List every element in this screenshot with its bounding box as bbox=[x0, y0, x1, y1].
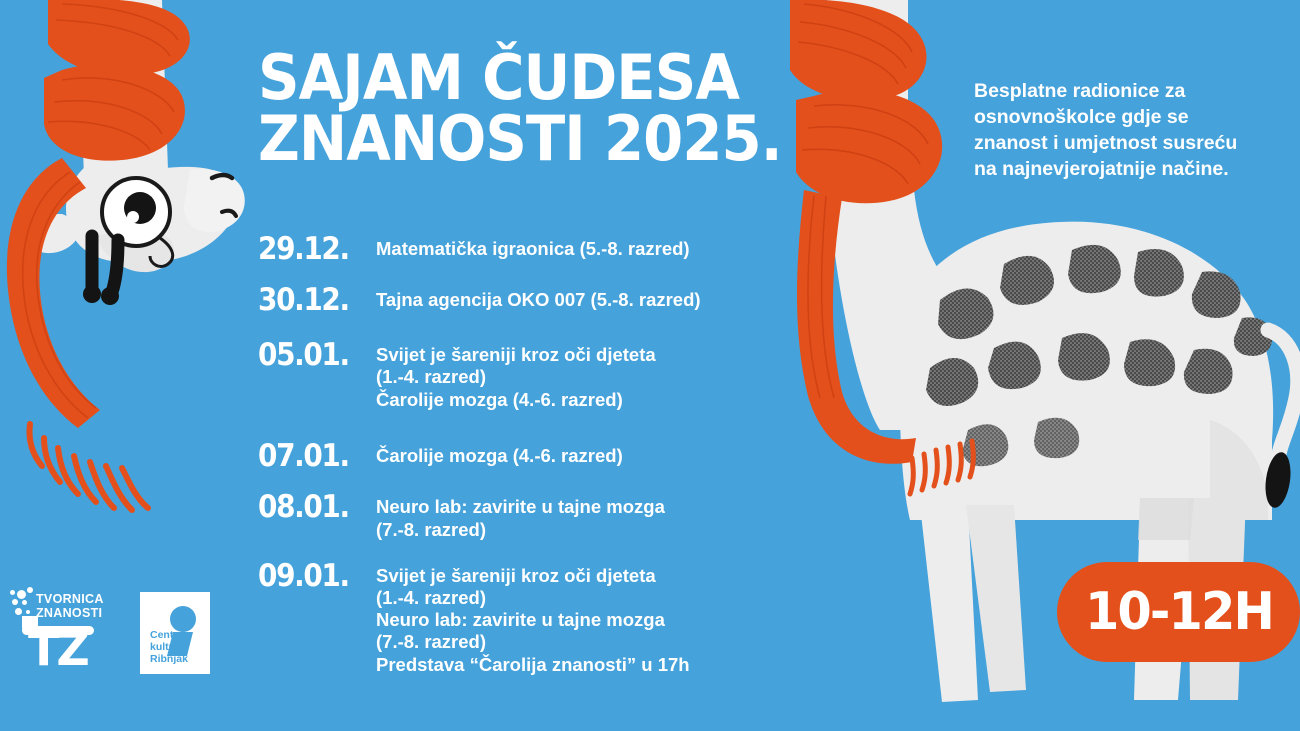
logo-ribnjak-line-3: Ribnjak bbox=[150, 654, 188, 666]
schedule-list: 29.12. Matematička igraonica (5.-8. razr… bbox=[258, 234, 818, 676]
logo-tvornica-wordmark: TVORNICA ZNANOSTI bbox=[36, 592, 104, 620]
schedule-row: 30.12. Tajna agencija OKO 007 (5.-8. raz… bbox=[258, 285, 818, 317]
logo-ribnjak-wordmark: Centar kulture Ribnjak bbox=[150, 630, 188, 666]
schedule-event: Neuro lab: zavirite u tajne mozga (7.-8.… bbox=[376, 492, 818, 540]
bubble-icon bbox=[10, 590, 15, 595]
time-badge-label: 10-12H bbox=[1085, 582, 1273, 642]
bubble-icon bbox=[12, 599, 18, 605]
schedule-event-line: Čarolije mozga (4.-6. razred) bbox=[376, 445, 818, 467]
description-line-3: znanost i umjetnost susreću bbox=[974, 131, 1294, 157]
poster: SAJAM ČUDESA ZNANOSTI 2025. Besplatne ra… bbox=[0, 0, 1300, 731]
description-text: Besplatne radionice za osnovnoškolce gdj… bbox=[974, 79, 1294, 183]
schedule-event-line: Neuro lab: zavirite u tajne mozga bbox=[376, 496, 818, 518]
page-title: SAJAM ČUDESA ZNANOSTI 2025. bbox=[258, 48, 816, 170]
bubble-icon bbox=[15, 608, 22, 615]
schedule-date: 29.12. bbox=[258, 234, 364, 266]
logo-group: TVORNICA ZNANOSTI TZ Centar kulture Ribn… bbox=[8, 586, 210, 674]
schedule-event-line: Neuro lab: zavirite u tajne mozga bbox=[376, 609, 818, 631]
time-badge: 10-12H bbox=[1057, 562, 1300, 662]
schedule-event-line: Svijet je šareniji kroz oči djeteta bbox=[376, 565, 818, 587]
schedule-event-line: Svijet je šareniji kroz oči djeteta bbox=[376, 344, 818, 366]
description-line-4: na najnevjerojatnije načine. bbox=[974, 157, 1294, 183]
schedule-event: Svijet je šareniji kroz oči djeteta (1.-… bbox=[376, 340, 818, 411]
title-line-2: ZNANOSTI 2025. bbox=[258, 109, 816, 170]
bubble-icon bbox=[17, 590, 26, 599]
schedule-event-line: Predstava “Čarolija znanosti” u 17h bbox=[376, 654, 818, 676]
schedule-event-line: (1.-4. razred) bbox=[376, 587, 818, 609]
schedule-row: 05.01. Svijet je šareniji kroz oči djete… bbox=[258, 340, 818, 411]
schedule-event-line: (7.-8. razred) bbox=[376, 519, 818, 541]
logo-tvornica-monogram: TZ bbox=[28, 626, 87, 672]
schedule-event: Tajna agencija OKO 007 (5.-8. razred) bbox=[376, 285, 818, 311]
schedule-date: 07.01. bbox=[258, 441, 364, 473]
schedule-event: Svijet je šareniji kroz oči djeteta (1.-… bbox=[376, 561, 818, 676]
logo-r-counter bbox=[170, 606, 196, 632]
schedule-date: 05.01. bbox=[258, 340, 364, 372]
schedule-date: 08.01. bbox=[258, 492, 364, 524]
bubble-icon bbox=[22, 600, 27, 605]
schedule-event-line: Čarolije mozga (4.-6. razred) bbox=[376, 389, 818, 411]
schedule-event-line: Tajna agencija OKO 007 (5.-8. razred) bbox=[376, 289, 818, 311]
schedule-row: 09.01. Svijet je šareniji kroz oči djete… bbox=[258, 561, 818, 676]
description-line-1: Besplatne radionice za bbox=[974, 79, 1294, 105]
title-line-1: SAJAM ČUDESA bbox=[258, 48, 816, 109]
logo-tvornica-line-1: TVORNICA bbox=[36, 592, 104, 606]
giraffe-head-illustration bbox=[0, 0, 260, 560]
schedule-event: Čarolije mozga (4.-6. razred) bbox=[376, 441, 818, 467]
schedule-row: 07.01. Čarolije mozga (4.-6. razred) bbox=[258, 441, 818, 473]
logo-tvornica-znanosti: TVORNICA ZNANOSTI TZ bbox=[8, 586, 112, 674]
bubble-icon bbox=[26, 610, 30, 614]
description-line-2: osnovnoškolce gdje se bbox=[974, 105, 1294, 131]
schedule-event-line: (7.-8. razred) bbox=[376, 631, 818, 653]
schedule-date: 09.01. bbox=[258, 561, 364, 593]
logo-tvornica-line-2: ZNANOSTI bbox=[36, 606, 104, 620]
schedule-event-line: (1.-4. razred) bbox=[376, 366, 818, 388]
schedule-row: 29.12. Matematička igraonica (5.-8. razr… bbox=[258, 234, 818, 266]
schedule-event-line: Matematička igraonica (5.-8. razred) bbox=[376, 238, 818, 260]
schedule-event: Matematička igraonica (5.-8. razred) bbox=[376, 234, 818, 260]
schedule-row: 08.01. Neuro lab: zavirite u tajne mozga… bbox=[258, 492, 818, 540]
logo-centar-kulture-ribnjak: Centar kulture Ribnjak bbox=[140, 592, 210, 674]
schedule-date: 30.12. bbox=[258, 285, 364, 317]
bubble-icon bbox=[27, 587, 33, 593]
